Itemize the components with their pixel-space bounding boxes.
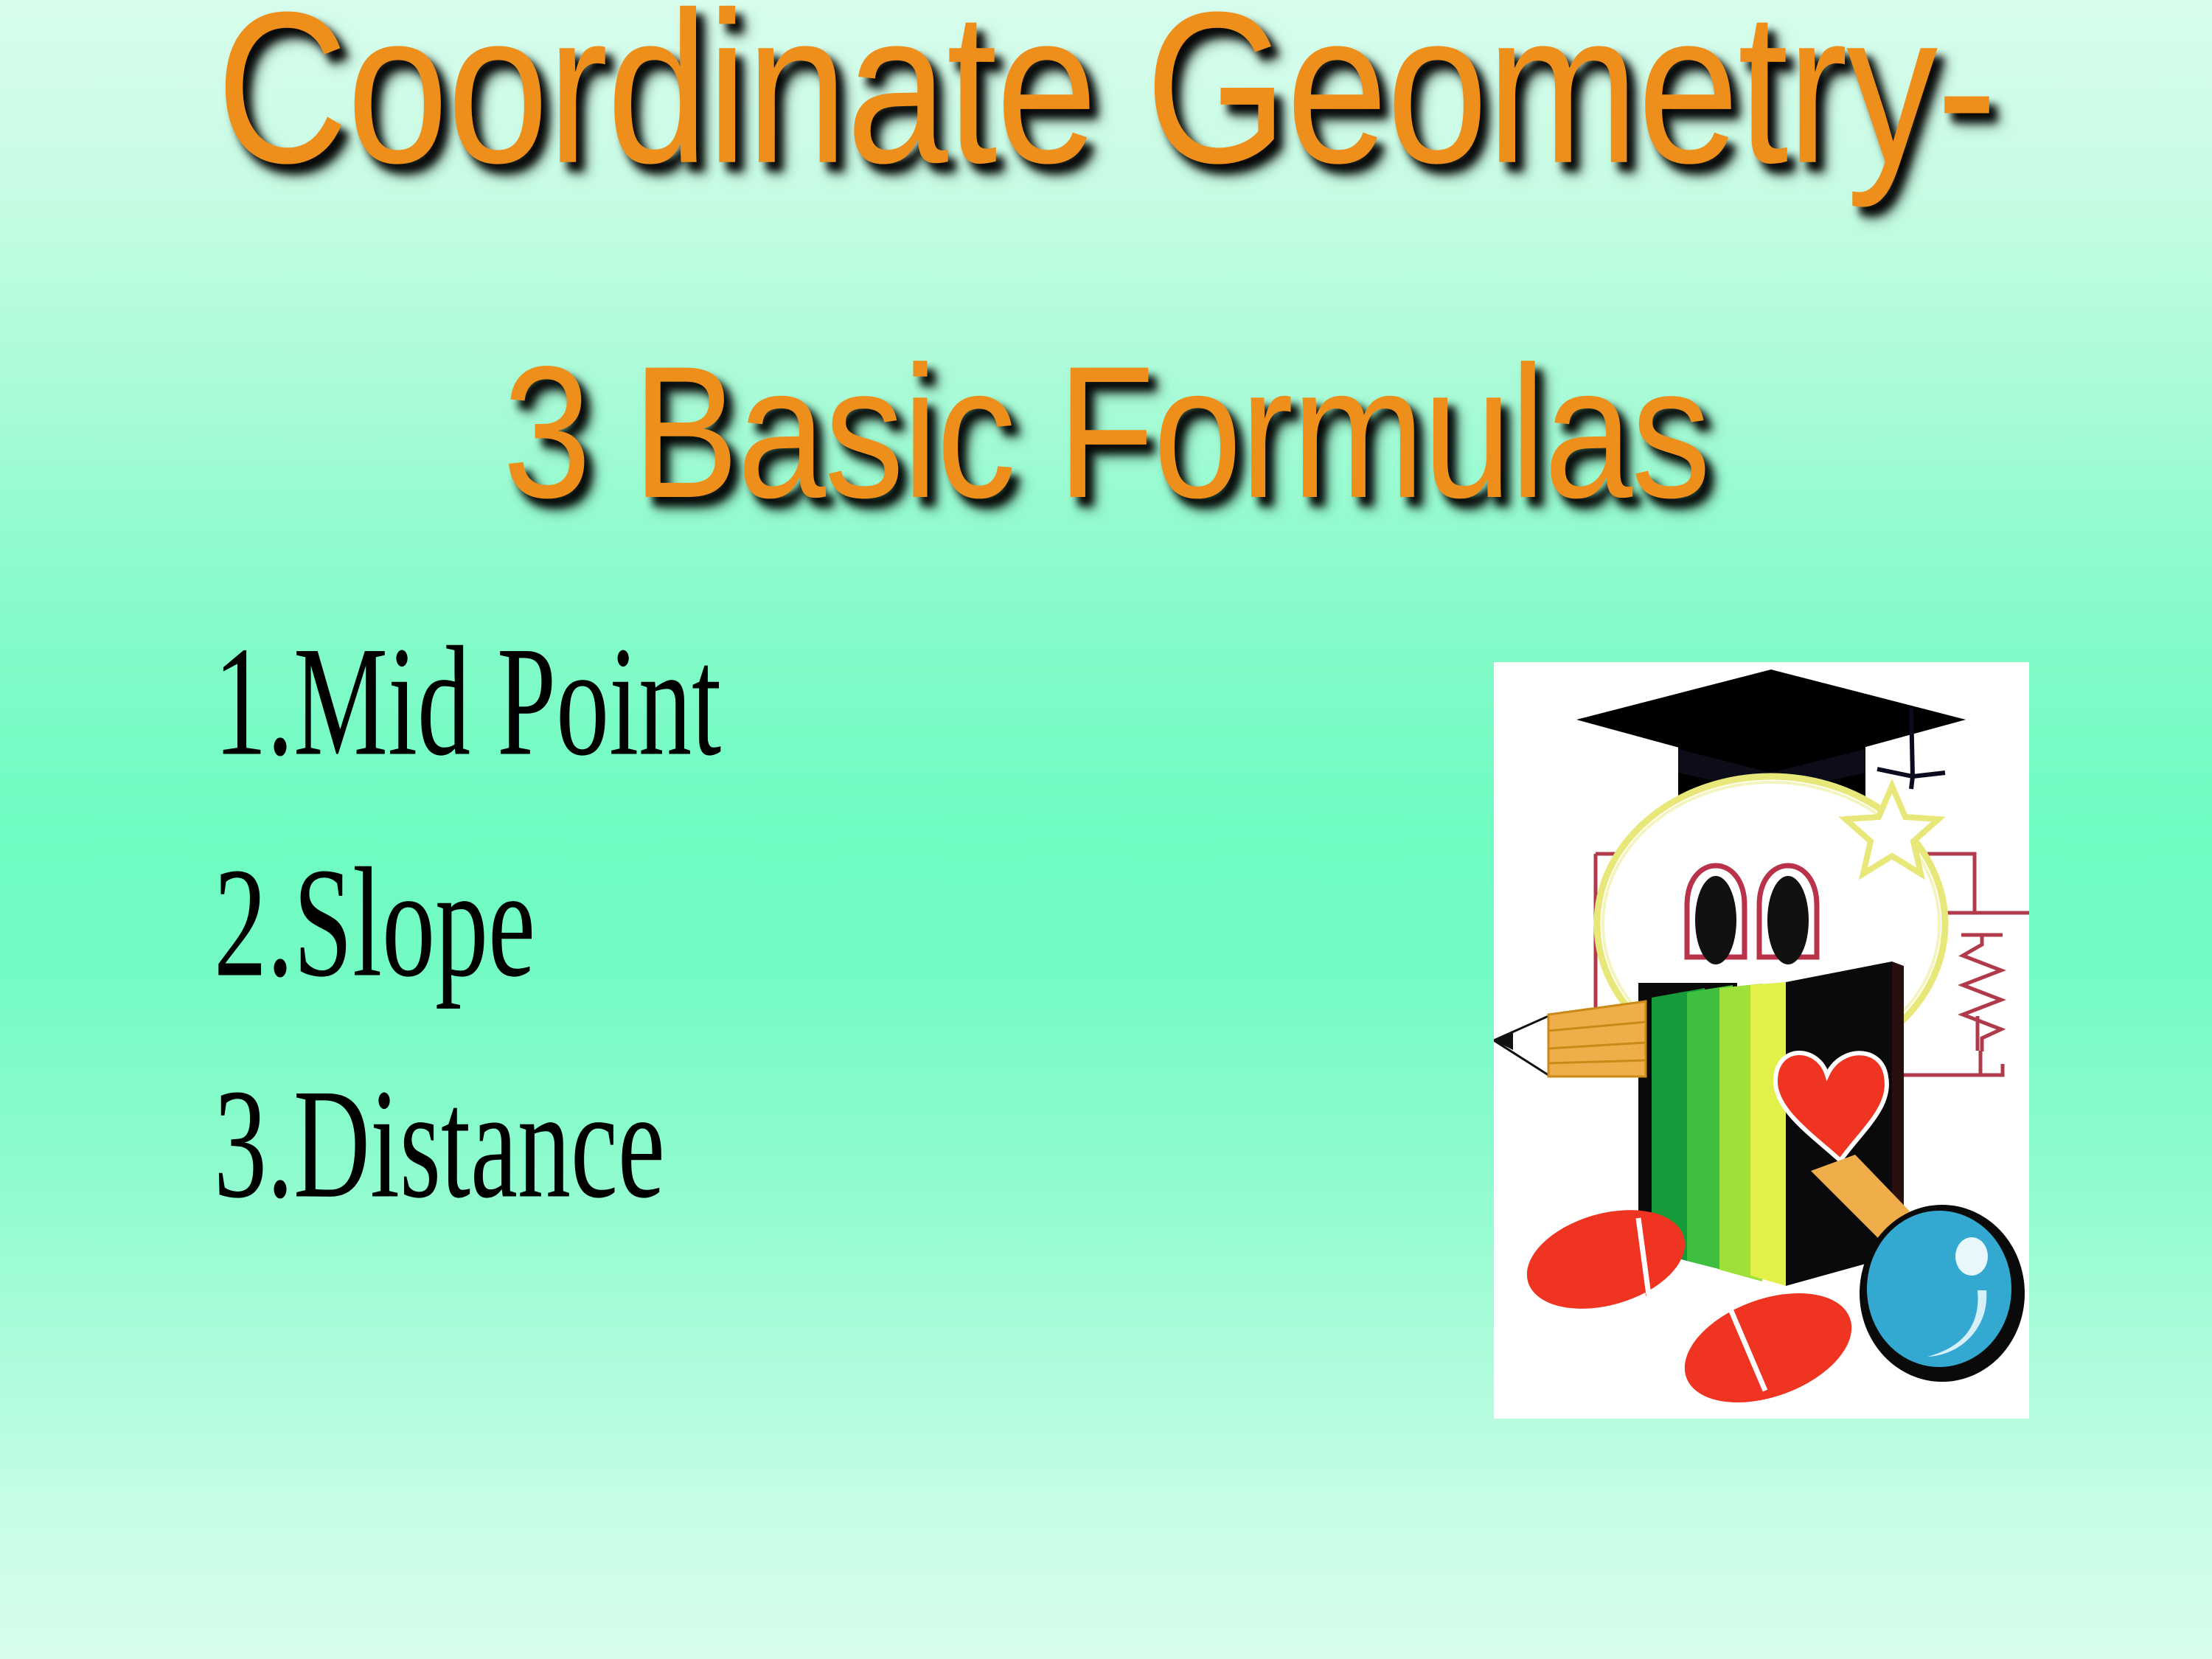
presentation-slide: Coordinate Geometry- 3 Basic Formulas 1.… bbox=[0, 0, 2212, 1659]
slide-title-line-1: Coordinate Geometry- bbox=[0, 0, 2212, 195]
formula-list: 1.Mid Point 2.Slope 3.Distance bbox=[214, 623, 1467, 1287]
slide-title-line-2: 3 Basic Formulas bbox=[0, 338, 2212, 526]
clipart-image bbox=[1494, 662, 2029, 1419]
blue-ball-icon bbox=[1860, 1205, 2025, 1382]
list-item: 3.Distance bbox=[214, 1065, 1417, 1380]
